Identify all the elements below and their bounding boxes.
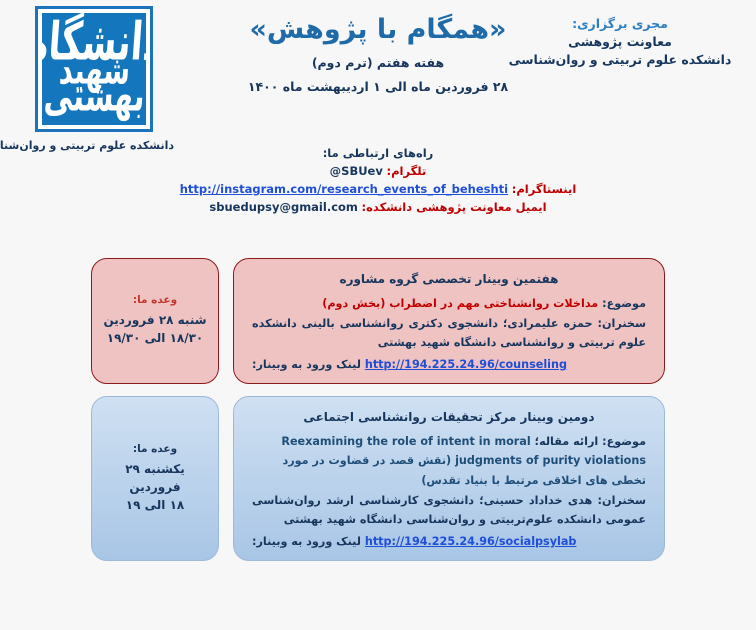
date-box-time: ۱۸ الی ۱۹	[126, 496, 184, 514]
contact-title: راه‌های ارتباطی ما:	[0, 146, 756, 160]
organizer-line-2: دانشکده علوم تربیتی و روان‌شناسی	[500, 51, 740, 69]
webinar-topic-row: موضوع: مداخلات روانشناختی مهم در اضطراب …	[252, 294, 646, 314]
telegram-label: تلگرام:	[387, 164, 427, 178]
webinar-speaker-row: سخنران: حمزه علیمرادی؛ دانشجوی دکتری روا…	[252, 314, 646, 353]
webinar-speaker-row: سخنران: هدی خداداد حسینی؛ دانشجوی کارشنا…	[252, 491, 646, 530]
webinar-heading: دومین وبینار مرکز تحقیقات روانشناسی اجتم…	[252, 410, 646, 424]
webinar-link-row: http://194.225.24.96/counseling لینک ورو…	[252, 358, 646, 371]
organizer-block: مجری برگزاری: معاونت پژوهشی دانشکده علوم…	[500, 16, 740, 69]
instagram-link[interactable]: http://instagram.com/research_events_of_…	[180, 182, 508, 196]
contact-block: راه‌های ارتباطی ما: تلگرام: @SBUev اینست…	[0, 146, 756, 216]
email-label: ایمیل معاونت پژوهشی دانشکده:	[362, 200, 547, 214]
webinar-url[interactable]: http://194.225.24.96/counseling	[365, 358, 567, 371]
webinar-details-socialpsylab: دومین وبینار مرکز تحقیقات روانشناسی اجتم…	[233, 396, 665, 561]
speaker-label: سخنران:	[598, 317, 646, 330]
instagram-label: اینستاگرام:	[512, 182, 576, 196]
topic-label: موضوع:	[602, 297, 646, 310]
webinar-card-socialpsylab: دومین وبینار مرکز تحقیقات روانشناسی اجتم…	[0, 396, 756, 561]
contact-row-instagram: اینستاگرام: http://instagram.com/researc…	[0, 181, 756, 199]
shahid-beheshti-logo-icon: دانشگاه شهید بهشتی	[35, 6, 153, 132]
webinar-date-box-counseling: وعده ما: شنبه ۲۸ فروردین ۱۸/۳۰ الی ۱۹/۳۰	[91, 258, 219, 384]
logo-calligraphy-line-3: بهشتی	[43, 79, 146, 115]
date-box-label: وعده ما:	[133, 294, 177, 306]
date-box-day: یکشنبه ۲۹ فروردین	[98, 460, 212, 496]
speaker-value: هدی خداداد حسینی؛ دانشجوی کارشناسی ارشد …	[252, 494, 646, 527]
webinar-date-box-socialpsylab: وعده ما: یکشنبه ۲۹ فروردین ۱۸ الی ۱۹	[91, 396, 219, 561]
organizer-label: مجری برگزاری:	[500, 16, 740, 31]
webinar-topic-row: موضوع: ارائه مقاله؛ Reexamining the role…	[252, 432, 646, 491]
webinar-link-row: http://194.225.24.96/socialpsylab لینک و…	[252, 535, 646, 548]
poster-header: دانشگاه شهید بهشتی دانشکده علوم تربیتی و…	[0, 0, 756, 160]
webinar-heading: هفتمین وبینار تخصصی گروه مشاوره	[252, 272, 646, 286]
date-box-time: ۱۸/۳۰ الی ۱۹/۳۰	[107, 329, 204, 347]
webinar-cards: هفتمین وبینار تخصصی گروه مشاوره موضوع: م…	[0, 258, 756, 573]
logo-inner-field: دانشگاه شهید بهشتی	[42, 13, 146, 125]
topic-label: موضوع: ارائه مقاله؛	[535, 435, 646, 448]
university-logo-block: دانشگاه شهید بهشتی دانشکده علوم تربیتی و…	[14, 6, 174, 152]
webinar-details-counseling: هفتمین وبینار تخصصی گروه مشاوره موضوع: م…	[233, 258, 665, 384]
telegram-handle[interactable]: @SBUev	[330, 164, 383, 178]
link-label: لینک ورود به وبینار:	[252, 535, 361, 548]
webinar-url[interactable]: http://194.225.24.96/socialpsylab	[365, 535, 577, 548]
link-label: لینک ورود به وبینار:	[252, 358, 361, 371]
topic-value: مداخلات روانشناختی مهم در اضطراب (بخش دو…	[322, 297, 598, 310]
contact-row-email: ایمیل معاونت پژوهشی دانشکده: sbuedupsy@g…	[0, 199, 756, 217]
logo-calligraphy: دانشگاه شهید بهشتی	[42, 13, 146, 125]
date-box-label: وعده ما:	[133, 443, 177, 455]
organizer-line-1: معاونت پژوهشی	[500, 33, 740, 51]
webinar-card-counseling: هفتمین وبینار تخصصی گروه مشاوره موضوع: م…	[0, 258, 756, 384]
speaker-value: حمزه علیمرادی؛ دانشجوی دکتری روانشناسی ب…	[252, 317, 646, 350]
email-address[interactable]: sbuedupsy@gmail.com	[209, 200, 357, 214]
date-box-day: شنبه ۲۸ فروردین	[103, 311, 206, 329]
speaker-label: سخنران:	[598, 494, 646, 507]
contact-row-telegram: تلگرام: @SBUev	[0, 163, 756, 181]
